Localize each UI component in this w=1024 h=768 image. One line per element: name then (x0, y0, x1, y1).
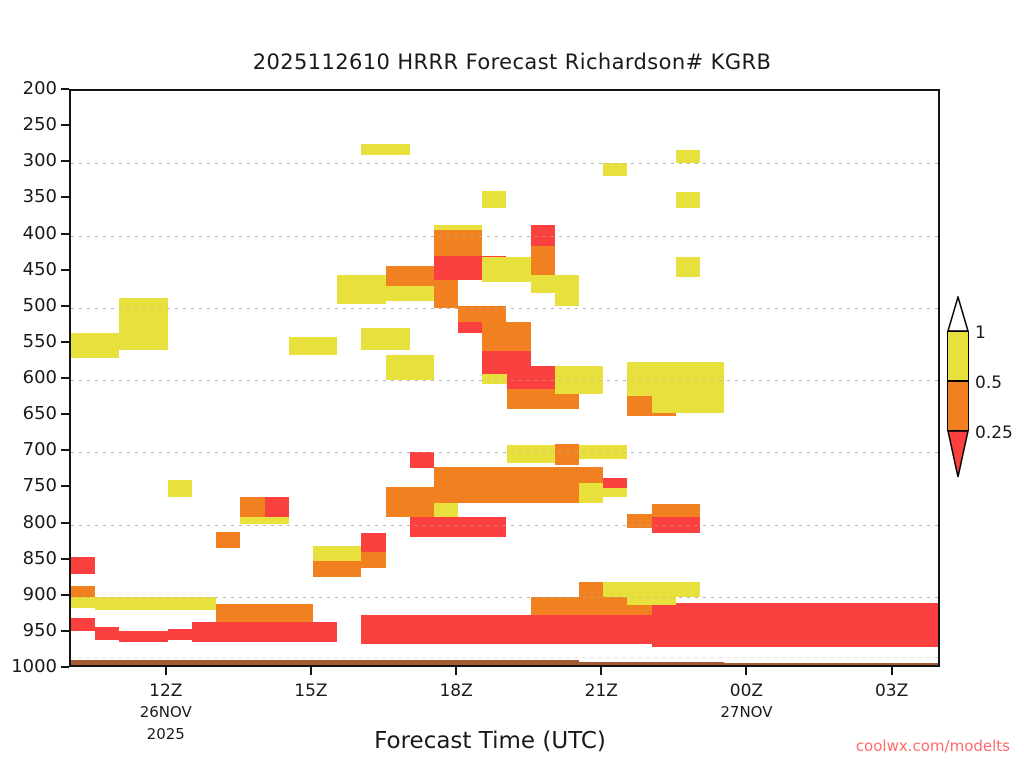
heatmap-cell (676, 257, 700, 277)
heatmap-cell (168, 629, 192, 641)
gridline-overlay (71, 452, 938, 453)
heatmap-cell (531, 246, 555, 275)
heatmap-cell (119, 631, 167, 641)
y-tick (61, 594, 69, 596)
y-tick-label: 950 (0, 620, 57, 641)
heatmap-cell (434, 230, 482, 256)
terrain-fill (724, 663, 938, 665)
x-tick-label: 03Z (832, 681, 952, 701)
x-tick (891, 667, 893, 675)
colorbar-segment-yellow (947, 331, 969, 381)
y-tick-label: 250 (0, 114, 57, 135)
y-tick (61, 233, 69, 235)
y-tick-label: 600 (0, 367, 57, 388)
y-tick-label: 700 (0, 439, 57, 460)
gridline-1000 (71, 657, 938, 658)
x-tick (745, 667, 747, 675)
y-tick (61, 88, 69, 90)
heatmap-cell (95, 597, 216, 610)
heatmap-cell (119, 298, 167, 349)
heatmap-cell (95, 627, 119, 640)
y-tick-label: 650 (0, 403, 57, 424)
heatmap-cell (289, 337, 337, 355)
x-tick-label: 18Z (396, 681, 516, 701)
plot-inner (71, 91, 938, 665)
heatmap-cell (676, 192, 700, 208)
gridline-overlay (71, 597, 938, 598)
x-tick-label: 15Z (251, 681, 371, 701)
heatmap-cell (555, 292, 579, 306)
colorbar-label: 1 (975, 323, 986, 343)
y-tick (61, 522, 69, 524)
heatmap-cell (313, 561, 361, 577)
surface-line (700, 658, 724, 661)
x-tick-date: 26NOV (106, 703, 226, 721)
heatmap-cell (555, 444, 579, 466)
y-tick-label: 850 (0, 548, 57, 569)
y-tick-label: 400 (0, 223, 57, 244)
heatmap-cell (410, 452, 434, 468)
heatmap-cell (265, 497, 289, 517)
heatmap-cell (652, 603, 938, 648)
y-tick-label: 800 (0, 512, 57, 533)
x-tick (310, 667, 312, 675)
heatmap-cell (71, 557, 95, 574)
heatmap-cell (652, 362, 725, 413)
terrain-fill (71, 660, 555, 665)
colorbar-segment-orange (947, 381, 969, 431)
y-tick-label: 200 (0, 78, 57, 99)
heatmap-cell (361, 552, 385, 568)
y-tick-label: 550 (0, 331, 57, 352)
y-tick (61, 666, 69, 668)
heatmap-cell (361, 615, 651, 644)
heatmap-cell (482, 322, 530, 351)
colorbar: 10.50.25 (943, 296, 973, 476)
heatmap-cell (71, 618, 95, 631)
y-tick (61, 630, 69, 632)
colorbar-label: 0.5 (975, 373, 1002, 393)
heatmap-cell (386, 355, 434, 380)
heatmap-cell (240, 497, 264, 517)
heatmap-cell (361, 328, 409, 350)
heatmap-cell (192, 622, 337, 642)
heatmap-cell (603, 163, 627, 176)
y-tick-label: 300 (0, 150, 57, 171)
y-tick-label: 1000 (0, 656, 57, 677)
chart-title: 2025112610 HRRR Forecast Richardson# KGR… (0, 50, 1024, 74)
surface-line (724, 659, 938, 662)
terrain-fill (555, 660, 579, 665)
heatmap-cell (313, 546, 361, 560)
heatmap-cell (434, 286, 458, 308)
heatmap-cell (652, 504, 700, 517)
x-tick-year: 2025 (106, 725, 226, 743)
credit-label: coolwx.com/modelts (856, 737, 1010, 755)
heatmap-cell (216, 532, 240, 548)
heatmap-cell (216, 604, 313, 622)
colorbar-label: 0.25 (975, 423, 1013, 443)
heatmap-cell (507, 366, 555, 389)
x-tick (455, 667, 457, 675)
heatmap-cell (71, 597, 95, 608)
gridline-overlay (71, 380, 938, 381)
y-tick (61, 341, 69, 343)
y-tick (61, 124, 69, 126)
plot-area (69, 89, 940, 667)
colorbar-arrow-top (947, 296, 969, 332)
y-tick-label: 500 (0, 295, 57, 316)
heatmap-cell (410, 517, 507, 537)
x-tick-label: 12Z (106, 681, 226, 701)
heatmap-cell (482, 191, 506, 208)
y-tick (61, 413, 69, 415)
heatmap-cell (434, 467, 603, 503)
heatmap-cell (579, 483, 603, 503)
heatmap-cell (361, 144, 409, 155)
gridline-overlay (71, 163, 938, 164)
terrain-fill (700, 662, 724, 665)
heatmap-cell (168, 480, 192, 497)
y-tick (61, 485, 69, 487)
heatmap-cell (603, 478, 627, 489)
heatmap-cell (361, 533, 385, 552)
gridline-overlay (71, 525, 938, 526)
x-tick (165, 667, 167, 675)
heatmap-cell (386, 286, 434, 300)
y-tick-label: 350 (0, 186, 57, 207)
heatmap-cell (386, 266, 434, 286)
x-tick-date: 27NOV (686, 703, 806, 721)
heatmap-cell (627, 593, 675, 605)
x-tick (600, 667, 602, 675)
heatmap-cell (337, 275, 385, 304)
y-tick (61, 160, 69, 162)
gridline-overlay (71, 236, 938, 237)
heatmap-cell (95, 333, 119, 358)
heatmap-cell (531, 275, 579, 293)
y-tick (61, 449, 69, 451)
gridline-overlay (71, 308, 938, 309)
y-tick-label: 450 (0, 259, 57, 280)
heatmap-cell (603, 488, 627, 497)
surface-line (579, 658, 700, 661)
y-tick (61, 196, 69, 198)
chart-page: 2025112610 HRRR Forecast Richardson# KGR… (0, 0, 1024, 768)
heatmap-cell (71, 333, 95, 358)
y-tick-label: 750 (0, 475, 57, 496)
heatmap-cell (676, 150, 700, 163)
terrain-fill (579, 662, 700, 665)
y-tick-label: 900 (0, 584, 57, 605)
y-tick (61, 305, 69, 307)
y-tick (61, 377, 69, 379)
x-tick-label: 00Z (686, 681, 806, 701)
heatmap-cell (482, 257, 530, 282)
x-axis-title: Forecast Time (UTC) (240, 728, 740, 754)
y-tick (61, 558, 69, 560)
heatmap-cell (240, 517, 288, 524)
x-tick-label: 21Z (541, 681, 661, 701)
y-tick (61, 269, 69, 271)
colorbar-arrow-bottom (947, 430, 969, 478)
heatmap-cell (71, 586, 95, 597)
